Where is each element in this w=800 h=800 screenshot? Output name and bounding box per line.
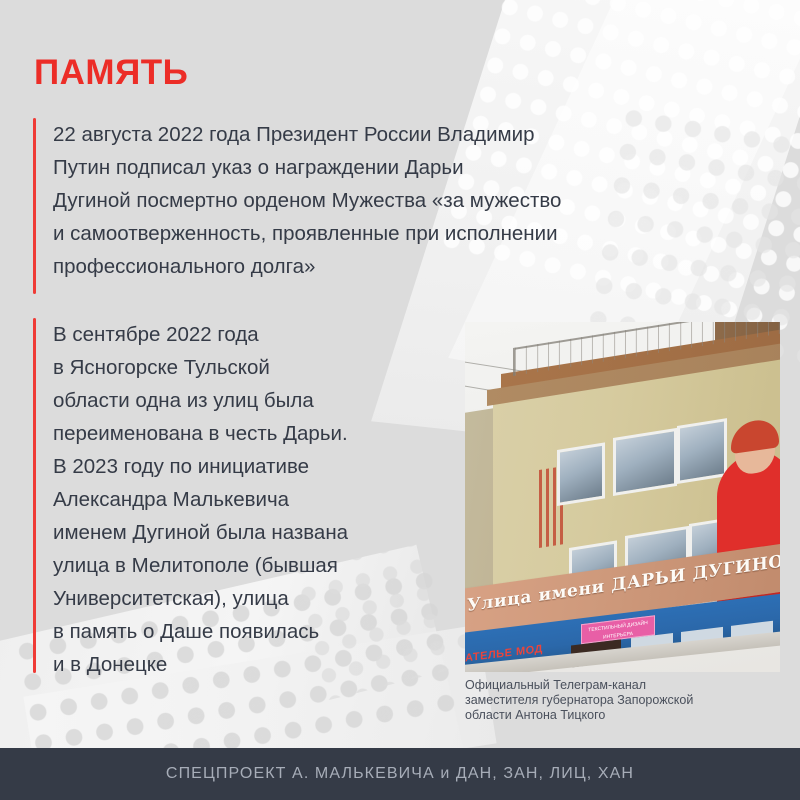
window bbox=[557, 442, 605, 506]
window bbox=[677, 418, 727, 484]
infographic-poster: ПАМЯТЬ 22 августа 2022 года Президент Ро… bbox=[0, 0, 800, 800]
red-accent-bar bbox=[33, 318, 36, 673]
photo-caption: Официальный Телеграм-канал заместителя г… bbox=[465, 678, 785, 723]
paragraph-text: В сентябре 2022 года в Ясногорске Тульск… bbox=[53, 318, 348, 681]
page-title: ПАМЯТЬ bbox=[34, 55, 188, 90]
paragraph-text: 22 августа 2022 года Президент России Вл… bbox=[53, 118, 561, 294]
text-block-street-renaming: В сентябре 2022 года в Ясногорске Тульск… bbox=[33, 318, 453, 681]
window bbox=[613, 428, 677, 496]
red-accent-bar bbox=[33, 118, 36, 294]
photo-building-with-mural: Улица имени ДАРЬИ ДУГИНОЙ ТЕКСТИЛЬНЫЙ ДИ… bbox=[465, 322, 780, 672]
footer-credit-text: СПЕЦПРОЕКТ А. МАЛЬКЕВИЧА и ДАН, ЗАН, ЛИЦ… bbox=[166, 765, 634, 783]
footer-bar: СПЕЦПРОЕКТ А. МАЛЬКЕВИЧА и ДАН, ЗАН, ЛИЦ… bbox=[0, 748, 800, 800]
text-block-award-decree: 22 августа 2022 года Президент России Вл… bbox=[33, 118, 733, 294]
